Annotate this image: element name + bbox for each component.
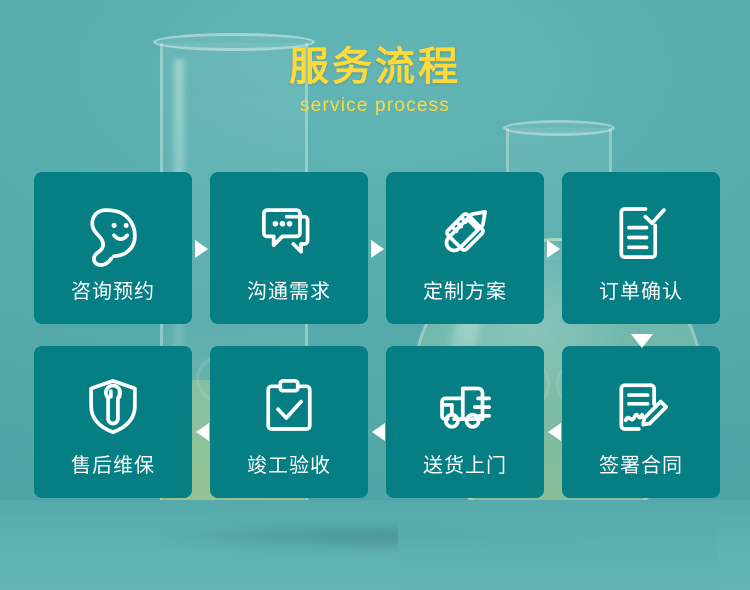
- step-card-after-sales[interactable]: 售后维保: [34, 346, 192, 498]
- page-title: 服务流程: [0, 44, 750, 90]
- page-subtitle: service process: [0, 95, 750, 117]
- process-steps-grid: 咨询预约 沟通需求: [34, 172, 722, 498]
- flask-rim: [503, 120, 615, 136]
- step-card-label: 咨询预约: [71, 282, 155, 302]
- step-card-label: 沟通需求: [247, 282, 331, 302]
- step-card-order-confirm[interactable]: 订单确认: [562, 172, 720, 324]
- step-card-delivery[interactable]: 送货上门: [386, 346, 544, 498]
- contract-signature-icon: [605, 370, 677, 442]
- step-card-communication[interactable]: 沟通需求: [210, 172, 368, 324]
- process-steps-row-2: 售后维保 竣工验收: [34, 346, 722, 498]
- arrow-row1-1-2: [195, 240, 208, 258]
- flask-base-blend: [398, 505, 718, 590]
- clipboard-check-icon: [253, 370, 325, 442]
- step-card-acceptance[interactable]: 竣工验收: [210, 346, 368, 498]
- step-card-sign-contract[interactable]: 签署合同: [562, 346, 720, 498]
- arrow-row2-3-2: [372, 423, 385, 441]
- arrow-row2-4-3: [548, 423, 561, 441]
- step-card-label: 售后维保: [71, 456, 155, 476]
- step-card-label: 定制方案: [423, 282, 507, 302]
- service-process-banner: 服务流程 service process 咨询预约: [0, 0, 750, 590]
- pencil-ruler-icon: [429, 196, 501, 268]
- chat-bubbles-icon: [253, 196, 325, 268]
- page-title-block: 服务流程 service process: [0, 44, 750, 117]
- arrow-row1-2-3: [371, 240, 384, 258]
- document-check-icon: [605, 196, 677, 268]
- arrow-row2-2-1: [196, 423, 209, 441]
- step-card-label: 订单确认: [599, 282, 683, 302]
- step-card-custom-plan[interactable]: 定制方案: [386, 172, 544, 324]
- step-card-label: 签署合同: [599, 456, 683, 476]
- arrow-row1-3-4: [547, 240, 560, 258]
- phone-smile-icon: [77, 196, 149, 268]
- step-card-consultation[interactable]: 咨询预约: [34, 172, 192, 324]
- arrow-row1-to-row2: [631, 334, 653, 348]
- step-card-label: 送货上门: [423, 456, 507, 476]
- step-card-label: 竣工验收: [247, 456, 331, 476]
- shield-wrench-icon: [77, 370, 149, 442]
- delivery-truck-icon: [429, 370, 501, 442]
